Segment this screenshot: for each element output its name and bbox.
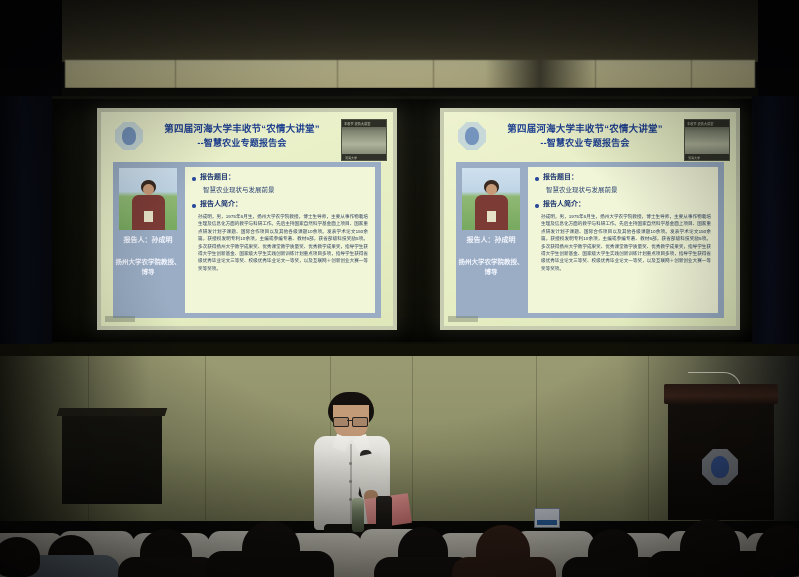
thumbnail-caption-bottom: 河海大学 bbox=[345, 156, 357, 160]
ceiling-panel bbox=[430, 0, 689, 62]
ceiling-panel bbox=[688, 0, 761, 62]
audience-head bbox=[0, 537, 40, 577]
audience-shoulders bbox=[118, 557, 218, 577]
bullet-bio-heading: 报告人简介： bbox=[543, 200, 585, 211]
presentation-slide: 第四届河海大学丰收节“农情大讲堂” --智慧农业专题报告会 丰收节 农情大讲堂 … bbox=[444, 112, 736, 326]
slide-title: 第四届河海大学丰收节“农情大讲堂” --智慧农业专题报告会 bbox=[147, 123, 337, 150]
glasses-icon bbox=[333, 417, 349, 427]
hohai-university-emblem bbox=[458, 122, 486, 150]
speaker-title-caption: 扬州大学农学院教授、博导 bbox=[115, 258, 181, 279]
projection-screen-right: 第四届河海大学丰收节“农情大讲堂” --智慧农业专题报告会 丰收节 农情大讲堂 … bbox=[440, 108, 740, 330]
bullet-bio: 报告人简介： bbox=[535, 200, 711, 211]
bullet-dot-icon bbox=[535, 204, 539, 208]
audience-head bbox=[756, 525, 799, 577]
slide-text-column: 报告题目： 智慧农业现状与发展前景 报告人简介： 孙成明，男，1975年6月生，… bbox=[185, 167, 375, 313]
ceiling-panel bbox=[62, 0, 173, 62]
bullet-topic-heading: 报告题目： bbox=[543, 173, 578, 184]
bullet-bio: 报告人简介： bbox=[192, 200, 368, 211]
glasses-icon bbox=[352, 417, 368, 427]
slide-title-line2: --智慧农业专题报告会 bbox=[490, 137, 680, 150]
ceiling bbox=[0, 0, 799, 96]
thumbnail-caption-top: 丰收节 农情大讲堂 bbox=[687, 121, 713, 126]
ceiling-panel bbox=[172, 0, 431, 62]
hohai-university-emblem bbox=[115, 122, 143, 150]
slide-content-panel: 报告人：孙成明 扬州大学农学院教授、博导 报告题目： 智慧农业现状与发展前景 报… bbox=[456, 162, 724, 318]
wall-trim-band bbox=[0, 344, 799, 356]
bullet-topic: 报告题目： bbox=[535, 173, 711, 184]
thumbnail-caption-top: 丰收节 农情大讲堂 bbox=[344, 121, 370, 126]
ceiling-light-band bbox=[65, 60, 755, 88]
hohai-university-emblem bbox=[702, 449, 738, 485]
bullet-topic: 报告题目： bbox=[192, 173, 368, 184]
presentation-slide: 第四届河海大学丰收节“农情大讲堂” --智慧农业专题报告会 丰收节 农情大讲堂 … bbox=[101, 112, 393, 326]
speaker-name-caption: 报告人：孙成明 bbox=[458, 236, 524, 247]
slide-content-panel: 报告人：孙成明 扬州大学农学院教授、博导 报告题目： 智慧农业现状与发展前景 报… bbox=[113, 162, 381, 318]
audience-shoulders bbox=[452, 557, 556, 577]
slide-speaker-column: 报告人：孙成明 扬州大学农学院教授、博导 bbox=[113, 162, 183, 318]
audience-shoulders bbox=[206, 551, 334, 577]
bullet-topic-value: 智慧农业现状与发展前景 bbox=[546, 186, 711, 196]
slide-title-line1: 第四届河海大学丰收节“农情大讲堂” bbox=[147, 123, 337, 137]
bullet-dot-icon bbox=[192, 177, 196, 181]
speaker-name-caption: 报告人：孙成明 bbox=[115, 236, 181, 247]
event-photo-thumbnail: 丰收节 农情大讲堂 河海大学 bbox=[684, 119, 730, 161]
bullet-dot-icon bbox=[535, 177, 539, 181]
seated-audience bbox=[0, 505, 799, 577]
bullet-dot-icon bbox=[192, 204, 196, 208]
slide-page-indicator bbox=[448, 316, 478, 322]
event-photo-thumbnail: 丰收节 农情大讲堂 河海大学 bbox=[341, 119, 387, 161]
speaker-bio-paragraph: 孙成明，男，1975年6月生，扬州大学农学院教授，博士生导师，主要从事作物栽培生… bbox=[198, 213, 368, 273]
slide-title-line1: 第四届河海大学丰收节“农情大讲堂” bbox=[490, 123, 680, 137]
audience-shoulders bbox=[648, 551, 772, 577]
slide-title-line2: --智慧农业专题报告会 bbox=[147, 137, 337, 150]
bullet-topic-heading: 报告题目： bbox=[200, 173, 235, 184]
bullet-topic-value: 智慧农业现状与发展前景 bbox=[203, 186, 368, 196]
speaker-portrait bbox=[119, 168, 177, 230]
audio-speaker-cabinet bbox=[62, 414, 162, 504]
thumbnail-caption-bottom: 河海大学 bbox=[688, 156, 700, 160]
projection-screen-left: 第四届河海大学丰收节“农情大讲堂” --智慧农业专题报告会 丰收节 农情大讲堂 … bbox=[97, 108, 397, 330]
slide-page-indicator bbox=[105, 316, 135, 322]
speaker-bio-paragraph: 孙成明，男，1975年6月生，扬州大学农学院教授，博士生导师，主要从事作物栽培生… bbox=[541, 213, 711, 273]
bullet-bio-heading: 报告人简介： bbox=[200, 200, 242, 211]
slide-title: 第四届河海大学丰收节“农情大讲堂” --智慧农业专题报告会 bbox=[490, 123, 680, 150]
speaker-title-caption: 扬州大学农学院教授、博导 bbox=[458, 258, 524, 279]
speaker-portrait bbox=[462, 168, 520, 230]
ceiling-edge-left bbox=[0, 0, 62, 96]
lecture-hall-photo: 第四届河海大学丰收节“农情大讲堂” --智慧农业专题报告会 丰收节 农情大讲堂 … bbox=[0, 0, 799, 577]
slide-speaker-column: 报告人：孙成明 扬州大学农学院教授、博导 bbox=[456, 162, 526, 318]
ceiling-edge-right bbox=[758, 0, 799, 96]
slide-text-column: 报告题目： 智慧农业现状与发展前景 报告人简介： 孙成明，男，1975年6月生，… bbox=[528, 167, 718, 313]
